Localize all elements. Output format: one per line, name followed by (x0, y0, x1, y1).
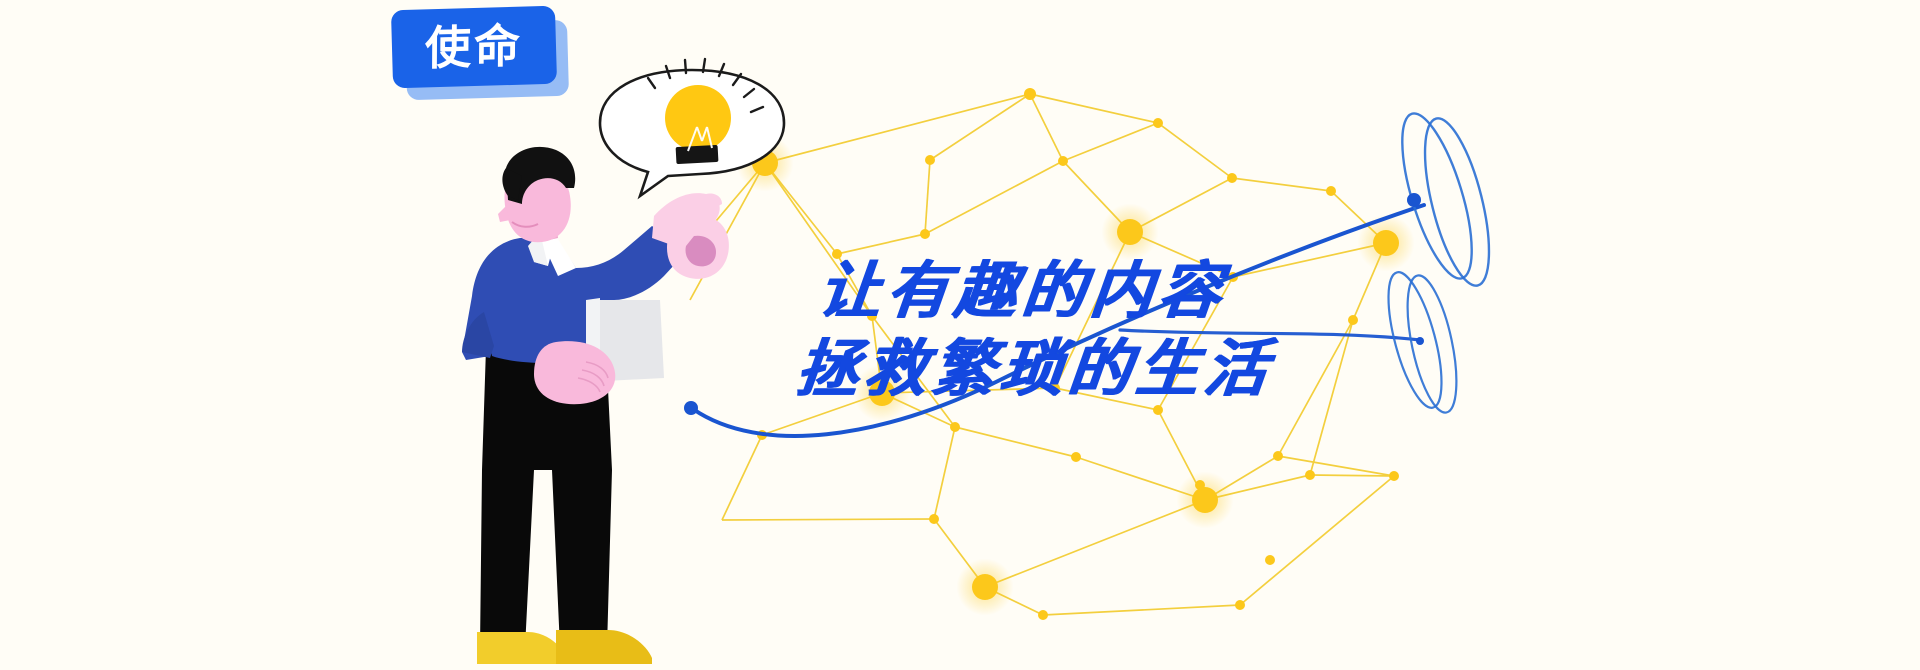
headline-line-2: 拯救繁琐的生活 (792, 330, 1522, 408)
mission-banner: 使命 让有趣的内容 拯救繁琐的生活 (0, 0, 1920, 670)
headline: 让有趣的内容 拯救繁琐的生活 (818, 252, 1518, 408)
badge-face: 使命 (391, 6, 557, 89)
character-shoes (477, 630, 652, 664)
mission-badge[interactable]: 使命 (392, 8, 568, 100)
character-head (498, 147, 575, 242)
badge-label: 使命 (425, 23, 523, 72)
headline-line-1: 让有趣的内容 (814, 252, 1522, 330)
